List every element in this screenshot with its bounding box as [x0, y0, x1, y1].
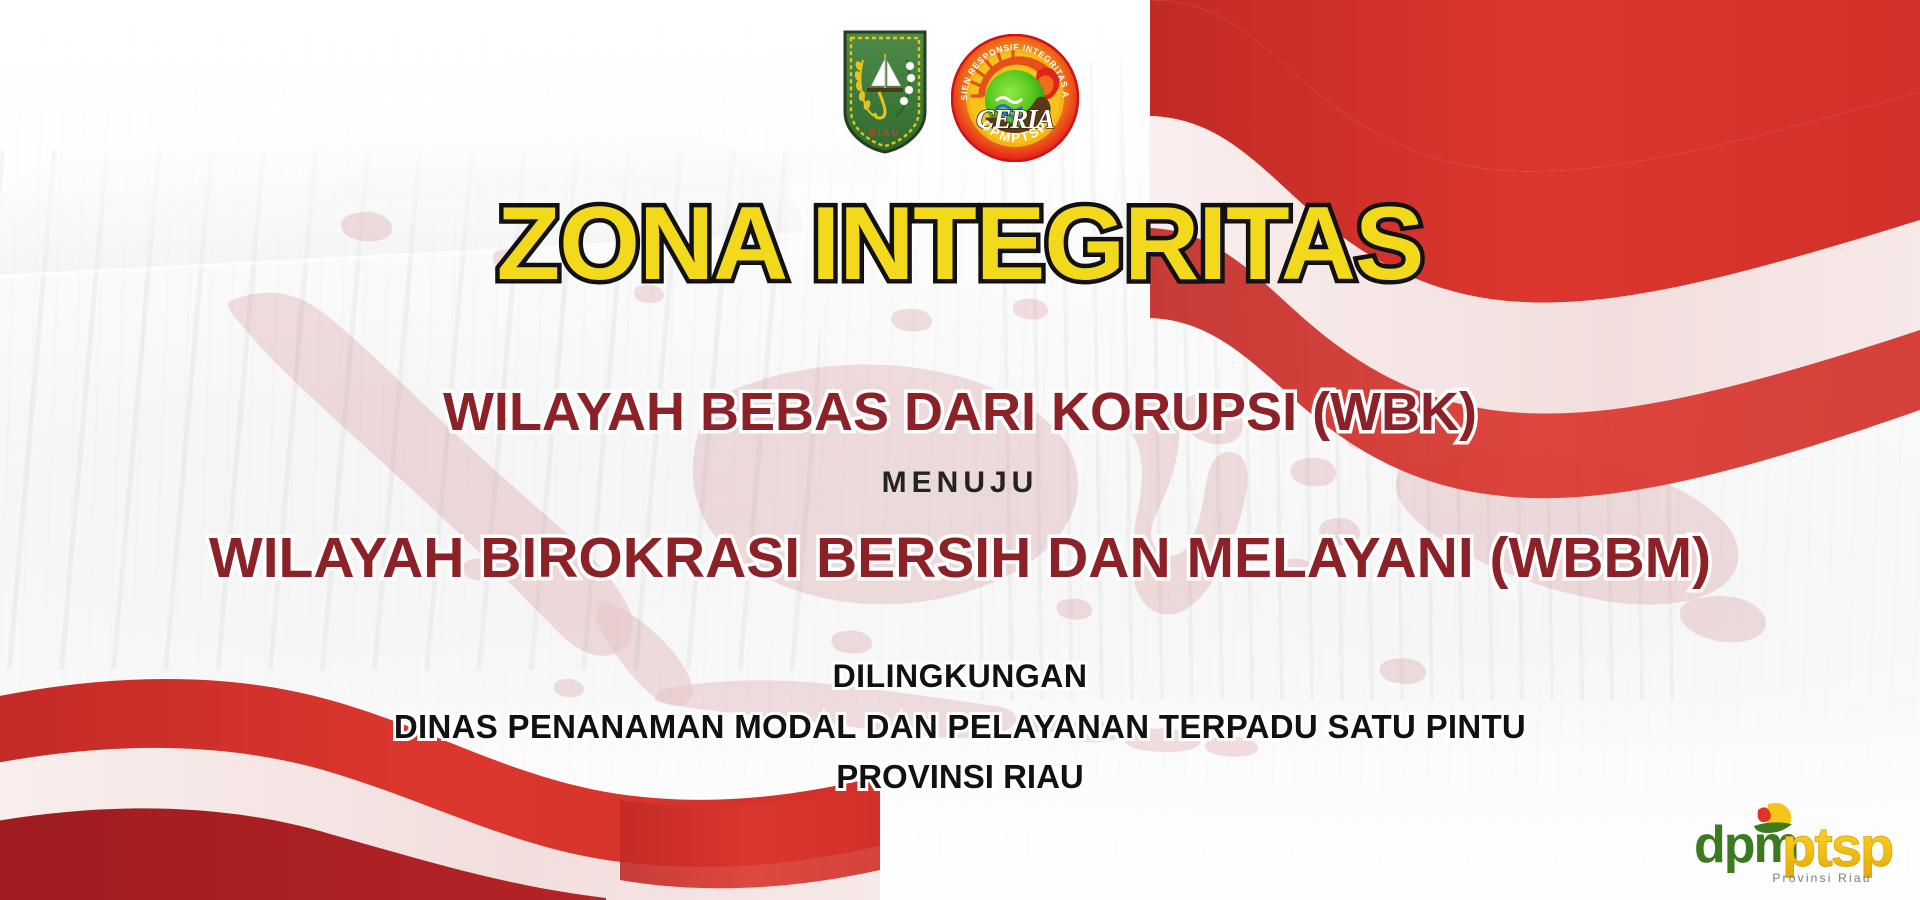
dpmptsp-wordmark-logo: dpm ptsp Provinsi Riau — [1686, 796, 1898, 888]
subtitle-wbbm: WILAYAH BIROKRASI BERSIH DAN MELAYANI (W… — [0, 530, 1920, 587]
connector-label: MENUJU — [0, 468, 1920, 498]
banner-text-content: ZONA INTEGRITAS WILAYAH BEBAS DARI KORUP… — [0, 0, 1920, 900]
svg-text:Provinsi Riau: Provinsi Riau — [1772, 871, 1871, 885]
province-name: PROVINSI RIAU — [0, 760, 1920, 793]
subtitle-wbk: WILAYAH BEBAS DARI KORUPSI (WBK) — [0, 385, 1920, 439]
scope-label: DILINGKUNGAN — [0, 660, 1920, 692]
svg-text:ptsp: ptsp — [1782, 815, 1892, 878]
page-title: ZONA INTEGRITAS — [0, 192, 1920, 296]
organization-name: DINAS PENANAMAN MODAL DAN PELAYANAN TERP… — [0, 710, 1920, 743]
zona-integritas-banner: RIAU — [0, 0, 1920, 900]
